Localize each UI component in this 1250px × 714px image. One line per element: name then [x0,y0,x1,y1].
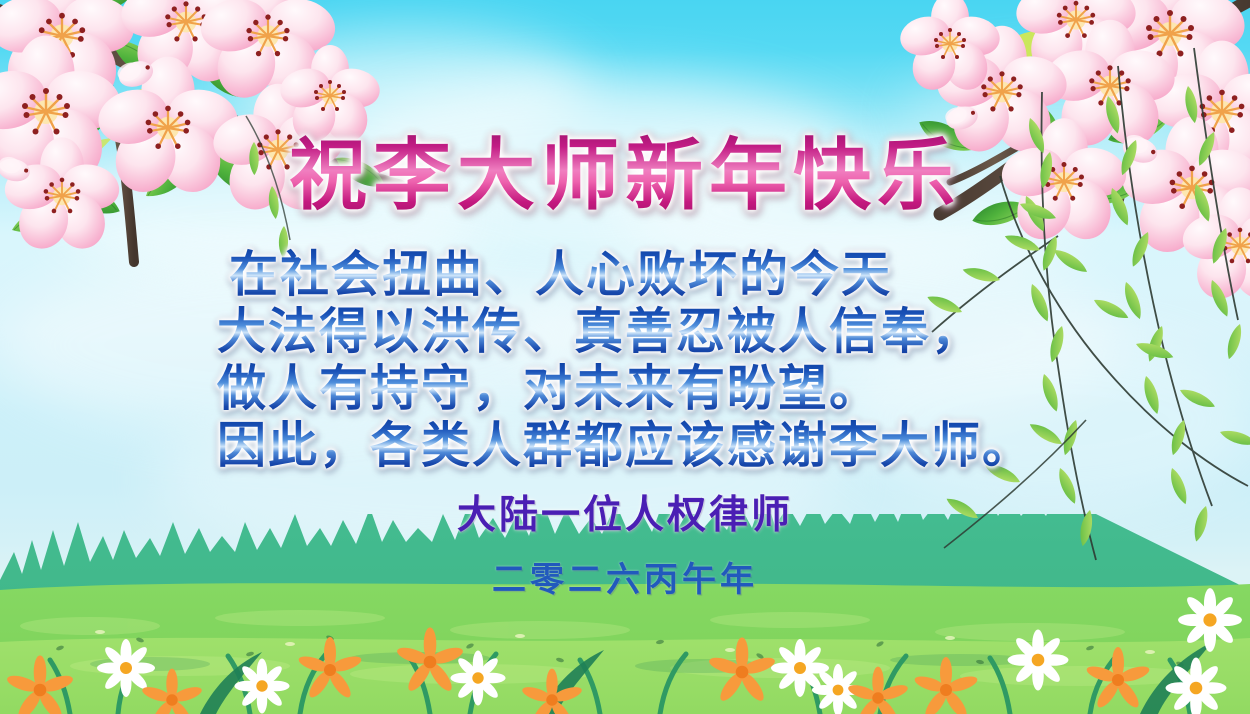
page-title: 祝李大师新年快乐 [289,130,961,222]
greeting-card: 祝李大师新年快乐 在社会扭曲、人心败坏的今天 大法得以洪传、真善忍被人信奉， 做… [0,0,1250,714]
body-line: 大法得以洪传、真善忍被人信奉， [217,303,982,360]
body-line: 在社会扭曲、人心败坏的今天 [229,246,892,303]
body-line: 因此，各类人群都应该感谢李大师。 [217,417,1033,474]
card-text: 祝李大师新年快乐 在社会扭曲、人心败坏的今天 大法得以洪传、真善忍被人信奉， 做… [0,0,1250,714]
signature: 大陆一位人权律师 [457,492,793,538]
body-line: 做人有持守，对未来有盼望。 [217,360,880,417]
card-body: 在社会扭曲、人心败坏的今天 大法得以洪传、真善忍被人信奉， 做人有持守，对未来有… [217,246,1033,474]
date-stamp: 二零二六丙午年 [492,560,758,600]
